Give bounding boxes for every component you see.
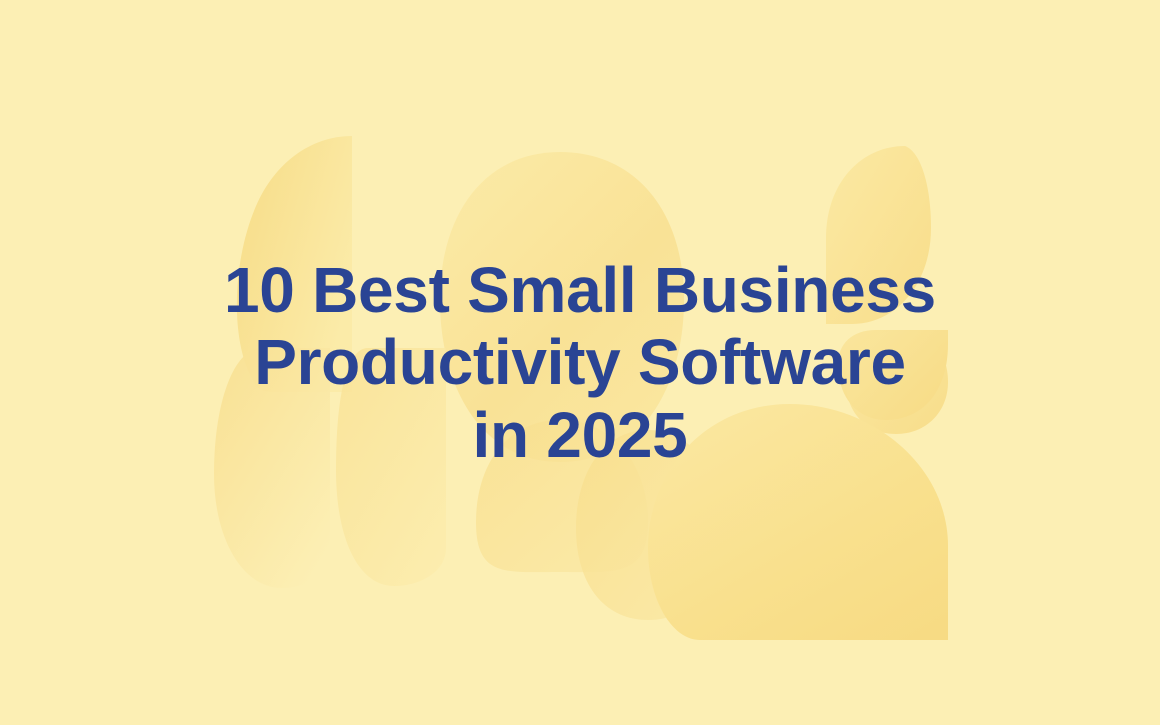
headline-line-2: Productivity Software	[130, 326, 1030, 399]
hero-banner: 10 Best Small Business Productivity Soft…	[0, 0, 1160, 725]
headline-line-1: 10 Best Small Business	[130, 254, 1030, 327]
headline-container: 10 Best Small Business Productivity Soft…	[0, 0, 1160, 725]
headline-line-3: in 2025	[130, 399, 1030, 472]
page-title: 10 Best Small Business Productivity Soft…	[130, 254, 1030, 472]
